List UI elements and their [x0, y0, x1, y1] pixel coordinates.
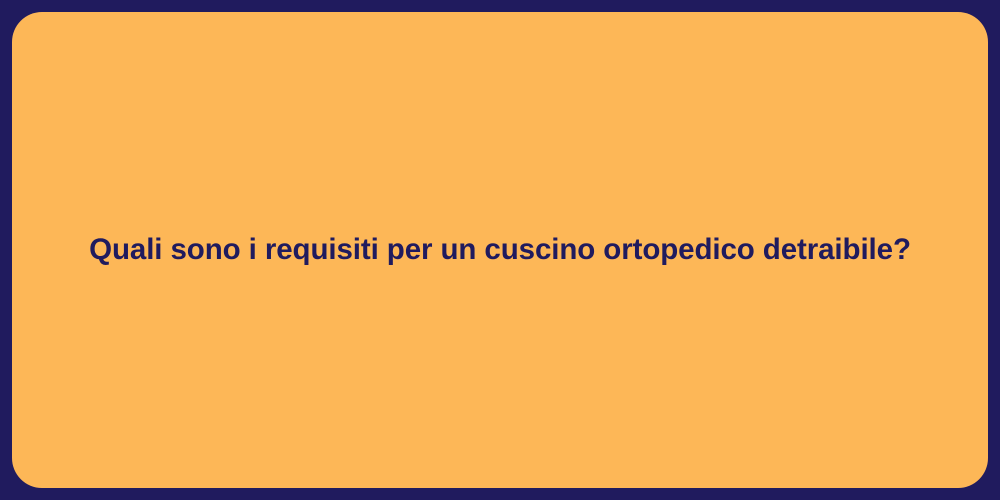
banner-frame: Quali sono i requisiti per un cuscino or… [0, 0, 1000, 500]
headline-text: Quali sono i requisiti per un cuscino or… [49, 231, 951, 269]
banner-card: Quali sono i requisiti per un cuscino or… [12, 12, 988, 488]
